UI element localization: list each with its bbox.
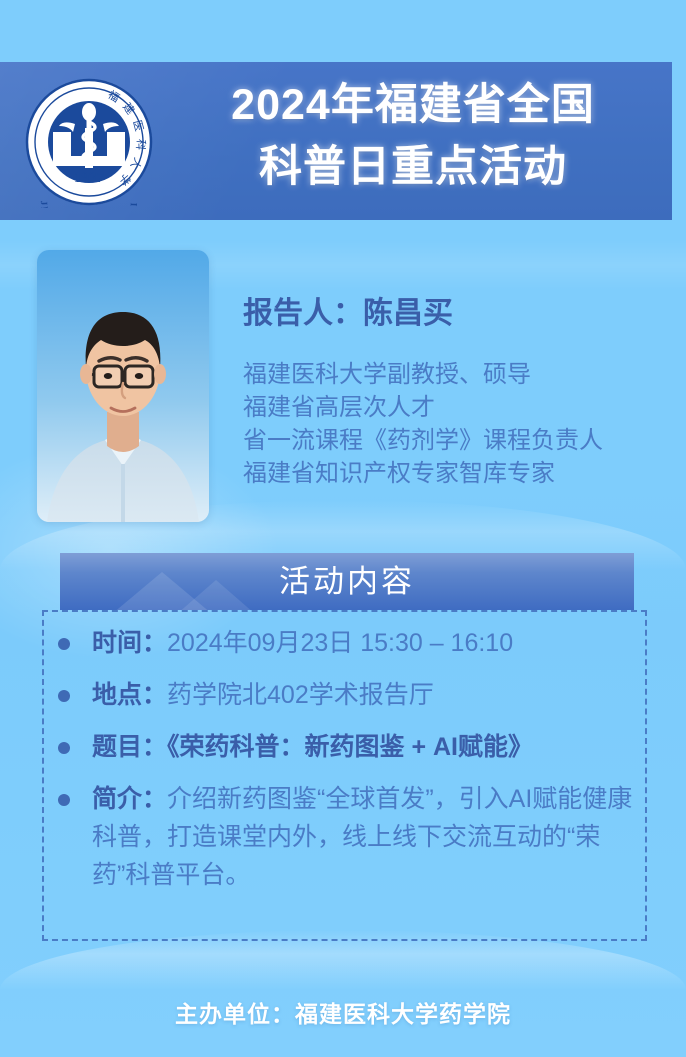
header-banner: 1937 FUJIAN MEDICAL UNIVERSITY 福建医科大学 20… <box>0 62 672 220</box>
item-value-location: 药学院北402学术报告厅 <box>167 681 434 709</box>
speaker-info: 报告人：陈昌买 福建医科大学副教授、硕导 福建省高层次人才 省一流课程《药剂学》… <box>243 296 673 490</box>
bullet-dot-icon <box>58 690 70 702</box>
event-poster: 1937 FUJIAN MEDICAL UNIVERSITY 福建医科大学 20… <box>0 0 686 1057</box>
list-item-topic: 题目：《荣药科普：新药图鉴 + AI赋能》 <box>58 728 638 766</box>
bullet-dot-icon <box>58 794 70 806</box>
list-item-location: 地点：药学院北402学术报告厅 <box>58 676 638 714</box>
item-label-abstract: 简介： <box>92 785 167 813</box>
speaker-credential-1: 福建医科大学副教授、硕导 <box>243 358 673 391</box>
speaker-portrait-photo <box>37 250 209 522</box>
bullet-dot-icon <box>58 742 70 754</box>
speaker-label: 报告人： <box>243 297 363 330</box>
speaker-name: 陈昌买 <box>363 297 453 330</box>
portrait-illustration <box>37 250 209 522</box>
item-value-time: 2024年09月23日 15:30 – 16:10 <box>167 629 513 657</box>
list-item-abstract: 简介：介绍新药图鉴“全球首发”，引入AI赋能健康科普，打造课堂内外，线上线下交流… <box>58 780 638 894</box>
item-label-topic: 题目： <box>92 733 167 761</box>
speaker-credential-4: 福建省知识产权专家智库专家 <box>243 457 673 490</box>
section-banner: 活动内容 <box>60 553 634 610</box>
organizer-footer: 主办单位：福建医科大学药学院 <box>0 995 686 1029</box>
speaker-credential-2: 福建省高层次人才 <box>243 391 673 424</box>
university-seal-logo: 1937 FUJIAN MEDICAL UNIVERSITY 福建医科大学 <box>23 76 155 208</box>
list-item-time: 时间：2024年09月23日 15:30 – 16:10 <box>58 624 638 662</box>
page-title-line-1: 2024年福建省全国 <box>168 74 658 136</box>
item-value-abstract: 介绍新药图鉴“全球首发”，引入AI赋能健康科普，打造课堂内外，线上线下交流互动的… <box>92 785 632 889</box>
seal-year: 1937 <box>74 170 105 186</box>
list-item-body: 地点：药学院北402学术报告厅 <box>92 676 638 714</box>
speaker-name-line: 报告人：陈昌买 <box>243 296 673 332</box>
item-label-location: 地点： <box>92 681 167 709</box>
content-list: 时间：2024年09月23日 15:30 – 16:10 地点：药学院北402学… <box>58 624 638 908</box>
item-label-time: 时间： <box>92 629 167 657</box>
list-item-body: 简介：介绍新药图鉴“全球首发”，引入AI赋能健康科普，打造课堂内外，线上线下交流… <box>92 780 638 894</box>
list-item-body: 时间：2024年09月23日 15:30 – 16:10 <box>92 624 638 662</box>
list-item-body: 题目：《荣药科普：新药图鉴 + AI赋能》 <box>92 728 638 766</box>
item-value-topic: 《荣药科普：新药图鉴 + AI赋能》 <box>167 733 533 761</box>
speaker-credential-3: 省一流课程《药剂学》课程负责人 <box>243 424 673 457</box>
page-title: 2024年福建省全国 科普日重点活动 <box>168 74 658 199</box>
page-title-line-2: 科普日重点活动 <box>168 136 658 198</box>
bullet-dot-icon <box>58 638 70 650</box>
section-banner-label: 活动内容 <box>60 553 634 610</box>
